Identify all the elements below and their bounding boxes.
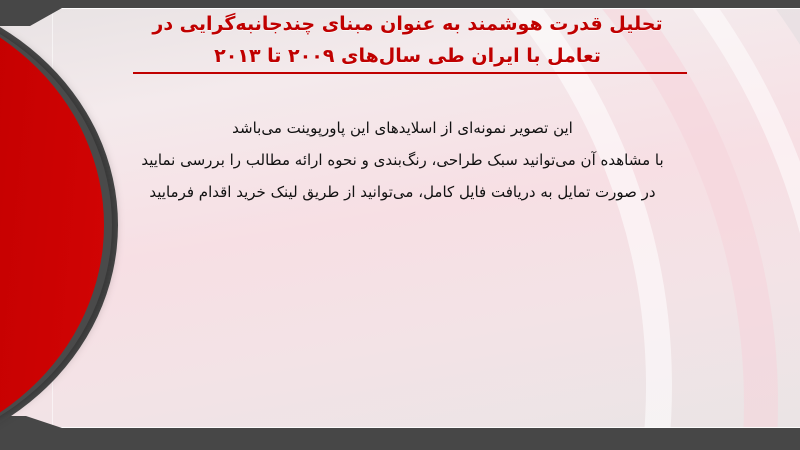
title-line-2: تعامل با ایران طی سال‌های ۲۰۰۹ تا ۲۰۱۳ <box>120 40 695 72</box>
body-line-1: این تصویر نمونه‌ای از اسلایدهای این پاور… <box>120 112 685 144</box>
body-line-2: با مشاهده آن می‌توانید سبک طراحی، رنگ‌بن… <box>120 144 685 176</box>
slide-body: این تصویر نمونه‌ای از اسلایدهای این پاور… <box>120 112 685 208</box>
slide-title: تحلیل قدرت هوشمند به عنوان مبنای چندجانب… <box>120 8 695 72</box>
title-line-1: تحلیل قدرت هوشمند به عنوان مبنای چندجانب… <box>120 8 695 40</box>
title-underline <box>133 72 687 74</box>
presentation-slide: تحلیل قدرت هوشمند به عنوان مبنای چندجانب… <box>0 0 800 450</box>
body-line-3: در صورت تمایل به دریافت فایل کامل، می‌تو… <box>120 176 685 208</box>
bottom-band-highlight <box>0 427 800 428</box>
